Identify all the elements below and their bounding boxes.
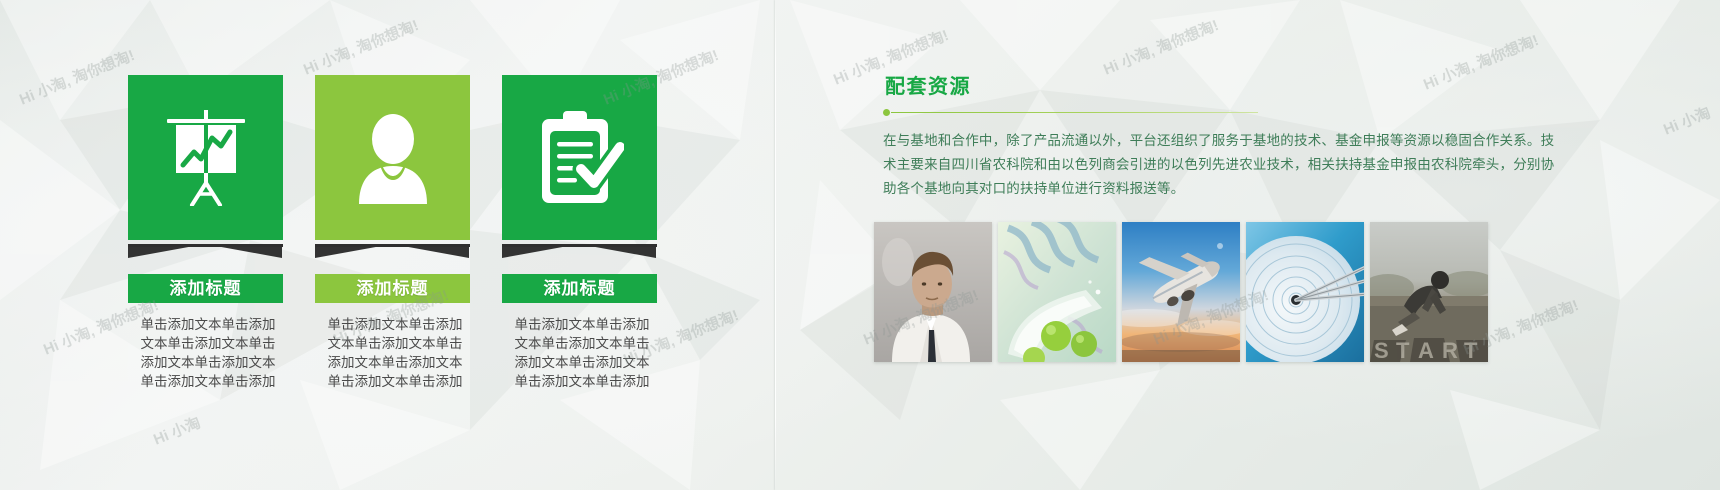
card-2-body-line-4: 单击添加文本单击添加: [315, 372, 475, 391]
cards-group: 添加标题 单击添加文本单击添加 文本单击添加文本单击 添加文本单击添加文本 单击…: [128, 75, 653, 415]
card-1-chevron-shadow: [128, 244, 283, 260]
card-2-icon-box: [315, 75, 470, 240]
paragraph-line-2: 术主要来自四川省农科院和由以色列商会引进的以色列先进农业技术，相关扶持基金申报由…: [883, 153, 1493, 177]
card-1-body-line-2: 文本单击添加文本单击: [128, 334, 288, 353]
watermark-13: Hi 小淘: [1660, 102, 1713, 140]
card-1-body-line-3: 添加文本单击添加文本: [128, 353, 288, 372]
card-3-title-button[interactable]: 添加标题: [502, 274, 657, 303]
card-1-body-line-4: 单击添加文本单击添加: [128, 372, 288, 391]
dna-lab-photo: [998, 222, 1116, 362]
card-2-body-line-1: 单击添加文本单击添加: [315, 315, 475, 334]
slide-canvas: 添加标题 单击添加文本单击添加 文本单击添加文本单击 添加文本单击添加文本 单击…: [0, 0, 1720, 490]
card-2-body-text: 单击添加文本单击添加 文本单击添加文本单击 添加文本单击添加文本 单击添加文本单…: [315, 315, 475, 391]
presentation-chart-icon: [163, 110, 249, 206]
watermark-1: Hi 小淘, 淘你想淘!: [16, 44, 137, 109]
svg-text:T: T: [1464, 338, 1478, 362]
underline-dot: [883, 109, 890, 116]
section-heading: 配套资源: [885, 70, 1493, 99]
airplane-photo: [1122, 222, 1240, 362]
clipboard-check-icon: [536, 111, 624, 205]
heading-underline: [883, 108, 1493, 116]
thumbnail-runner-start[interactable]: STA RT: [1370, 222, 1488, 362]
card-2-title-button[interactable]: 添加标题: [315, 274, 470, 303]
card-2[interactable]: 添加标题 单击添加文本单击添加 文本单击添加文本单击 添加文本单击添加文本 单击…: [315, 75, 470, 391]
thumbnail-target-dart[interactable]: [1246, 222, 1364, 362]
card-1-title-button[interactable]: 添加标题: [128, 274, 283, 303]
card-3-body-text: 单击添加文本单击添加 文本单击添加文本单击 添加文本单击添加文本 单击添加文本单…: [502, 315, 662, 391]
section-paragraph: 在与基地和合作中，除了产品流通以外，平台还组织了服务于基地的技术、基金申报等资源…: [883, 129, 1493, 201]
card-1-body-line-1: 单击添加文本单击添加: [128, 315, 288, 334]
underline-line: [891, 112, 1258, 114]
card-3[interactable]: 添加标题 单击添加文本单击添加 文本单击添加文本单击 添加文本单击添加文本 单击…: [502, 75, 657, 391]
card-1[interactable]: 添加标题 单击添加文本单击添加 文本单击添加文本单击 添加文本单击添加文本 单击…: [128, 75, 283, 391]
runner-start-photo: STA RT: [1370, 222, 1488, 362]
card-2-chevron-shadow: [315, 244, 470, 260]
card-3-chevron-shadow: [502, 244, 657, 260]
svg-text:A: A: [1418, 338, 1434, 362]
svg-text:T: T: [1396, 338, 1410, 362]
businessman-photo: [874, 222, 992, 362]
paragraph-line-1: 在与基地和合作中，除了产品流通以外，平台还组织了服务于基地的技术、基金申报等资源…: [883, 129, 1493, 153]
card-3-body-line-4: 单击添加文本单击添加: [502, 372, 662, 391]
svg-text:S: S: [1374, 338, 1389, 362]
vertical-divider: [775, 0, 776, 490]
card-1-icon-box: [128, 75, 283, 240]
paragraph-line-3: 助各个基地向其对口的扶持单位进行资料报送等。: [883, 177, 1493, 201]
thumbnail-dna-lab[interactable]: [998, 222, 1116, 362]
thumbnail-airplane[interactable]: [1122, 222, 1240, 362]
card-3-icon-box: [502, 75, 657, 240]
person-icon: [351, 112, 435, 204]
svg-text:R: R: [1442, 338, 1458, 362]
card-3-body-line-2: 文本单击添加文本单击: [502, 334, 662, 353]
card-1-body-text: 单击添加文本单击添加 文本单击添加文本单击 添加文本单击添加文本 单击添加文本单…: [128, 315, 288, 391]
card-3-body-line-3: 添加文本单击添加文本: [502, 353, 662, 372]
watermark-3: Hi 小淘, 淘你想淘!: [300, 14, 421, 79]
thumbnail-businessman[interactable]: [874, 222, 992, 362]
card-2-body-line-2: 文本单击添加文本单击: [315, 334, 475, 353]
card-3-body-line-1: 单击添加文本单击添加: [502, 315, 662, 334]
card-2-body-line-3: 添加文本单击添加文本: [315, 353, 475, 372]
watermark-14: Hi 小淘: [150, 412, 203, 450]
target-dart-photo: [1246, 222, 1364, 362]
right-panel: 配套资源 在与基地和合作中，除了产品流通以外，平台还组织了服务于基地的技术、基金…: [883, 70, 1493, 201]
